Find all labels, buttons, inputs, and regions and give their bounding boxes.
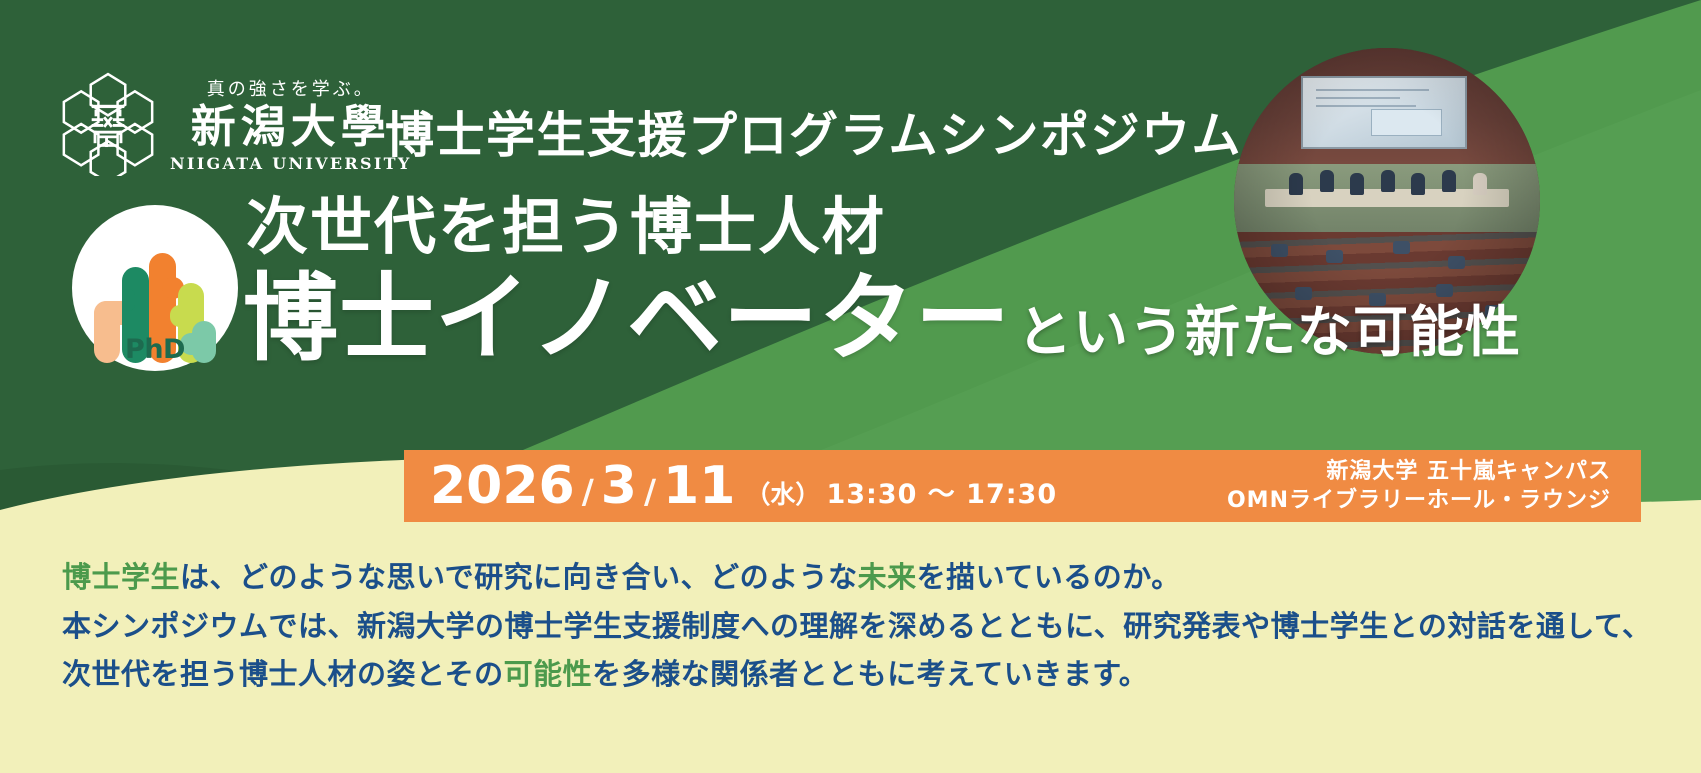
phd-badge: PhD	[72, 205, 238, 371]
university-name-en: NIIGATA UNIVERSITY	[170, 154, 412, 173]
headline-tail-text: という新たな可能性	[1017, 305, 1521, 367]
event-venue: 新潟大学 五十嵐キャンパス OMNライブラリーホール・ラウンジ	[1227, 457, 1611, 515]
venue-campus: 新潟大学 五十嵐キャンパス	[1227, 457, 1611, 486]
event-day: 11	[663, 456, 735, 516]
university-logo: 真の強さを学ぶ。 新潟大學 NIIGATA UNIVERSITY	[60, 72, 412, 176]
event-date-bar: 2026 / 3 / 11 （水） 13:30 ～ 17:30 新潟大学 五十嵐…	[404, 450, 1641, 522]
description-line-2: 本シンポジウムでは、新潟大学の博士学生支援制度への理解を深めるとともに、研究発表…	[62, 602, 1662, 651]
phd-plants-badge-icon: PhD	[92, 243, 218, 369]
symposium-banner: 真の強さを学ぶ。 新潟大學 NIIGATA UNIVERSITY 博士学生支援プ…	[0, 0, 1701, 773]
description-block: 博士学生は、どのような思いで研究に向き合い、どのような未来を描いているのか。 本…	[62, 553, 1662, 699]
description-highlight-future: 未来	[858, 560, 917, 594]
event-day-of-week: （水）	[745, 475, 820, 511]
headline-line-1: 次世代を担う博士人材	[246, 196, 886, 258]
event-datetime: 2026 / 3 / 11 （水） 13:30 ～ 17:30	[430, 456, 1057, 516]
description-highlight-students: 博士学生	[62, 560, 180, 594]
university-tagline: 真の強さを学ぶ。	[207, 75, 375, 101]
description-highlight-possibility: 可能性	[504, 657, 593, 691]
headline-line-2: 博士イノベーター という新たな可能性	[243, 272, 1521, 367]
venue-hall: OMNライブラリーホール・ラウンジ	[1227, 486, 1611, 515]
headline-main-text: 博士イノベーター	[243, 272, 1011, 367]
description-line-1: 博士学生は、どのような思いで研究に向き合い、どのような未来を描いているのか。	[62, 553, 1662, 602]
event-year: 2026	[430, 456, 575, 516]
description-line-1-text-a: は、どのような思いで研究に向き合い、どのような	[180, 560, 858, 594]
description-line-3: 次世代を担う博士人材の姿とその可能性を多様な関係者とともに考えていきます。	[62, 650, 1662, 699]
description-line-1-text-b: を描いているのか。	[917, 560, 1181, 594]
date-separator-1: /	[582, 472, 594, 511]
phd-badge-word: PhD	[92, 334, 218, 365]
description-line-3-text-b: を多様な関係者とともに考えていきます。	[592, 657, 1148, 691]
university-name-ja: 新潟大學	[191, 103, 391, 150]
niigata-hexagon-logo-icon	[60, 72, 156, 176]
event-month: 3	[601, 456, 637, 516]
program-title: 博士学生支援プログラムシンポジウム	[385, 96, 1242, 167]
event-time: 13:30 ～ 17:30	[826, 472, 1057, 511]
date-separator-2: /	[644, 472, 656, 511]
description-line-3-text-a: 次世代を担う博士人材の姿とその	[62, 657, 504, 691]
